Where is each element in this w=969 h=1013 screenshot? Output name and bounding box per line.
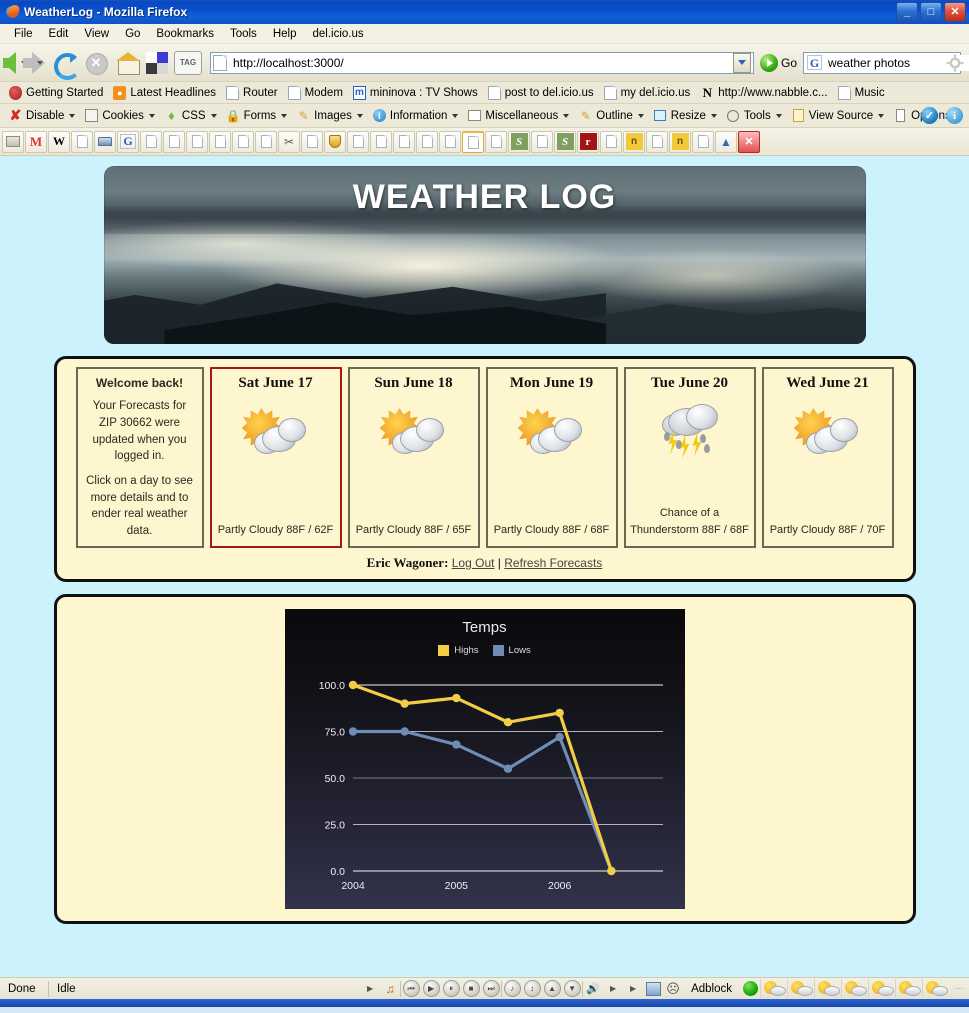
data-point (348, 727, 356, 735)
media-updown-button[interactable]: ↕ (522, 980, 542, 998)
status-text: Done (0, 978, 48, 999)
page-icon[interactable] (416, 131, 438, 153)
scissors-icon[interactable]: ✂ (278, 131, 300, 153)
media-note-button[interactable]: ♪ (502, 980, 522, 998)
caret-right-icon-2[interactable]: ▶ (623, 980, 643, 998)
forward-history-caret-icon[interactable] (37, 61, 43, 65)
bookmark-getting-started[interactable]: Getting Started (5, 85, 107, 101)
statusbar-weather-icon-4[interactable] (841, 979, 868, 998)
caret-right-icon-1[interactable]: ▶ (603, 980, 623, 998)
x-axis-tick-label: 2004 (341, 880, 365, 892)
devbar-label: Miscellaneous (485, 110, 558, 122)
menu-go[interactable]: Go (117, 27, 148, 41)
bookmark-my-delicious[interactable]: my del.icio.us (600, 85, 695, 101)
window-controls: _ □ ✕ (896, 2, 966, 22)
y-axis-tick-label: 0.0 (330, 866, 345, 878)
page-icon[interactable] (163, 131, 185, 153)
home-icon[interactable] (115, 50, 141, 76)
bookmark-label: Music (855, 87, 885, 99)
devbar-information[interactable]: i Information (368, 107, 463, 124)
bookmark-nabble[interactable]: N http://www.nabble.c... (696, 85, 831, 101)
mininova-icon: m (353, 86, 366, 100)
forecast-card-mon[interactable]: Mon June 19 Partly Cloudy 88F / 68F (486, 367, 618, 548)
info-icon: i (372, 108, 387, 123)
bookmark-label: my del.icio.us (621, 87, 691, 99)
nyan-icon[interactable]: n (669, 131, 691, 153)
data-point (400, 727, 408, 735)
gear-icon[interactable] (945, 53, 965, 73)
partly-cloudy-icon (240, 402, 312, 464)
wikipedia-icon[interactable]: W (48, 131, 70, 153)
media-up-button[interactable]: ▲ (542, 980, 562, 998)
clipboard-icon (791, 108, 806, 123)
save-page-icon[interactable] (643, 980, 663, 998)
colorzilla-icon[interactable] (146, 52, 168, 74)
devbar-cookies[interactable]: Cookies (80, 107, 159, 124)
window-title: WeatherLog - Mozilla Firefox (24, 5, 187, 19)
partly-cloudy-icon (792, 402, 864, 464)
note-icon[interactable]: ♫ (380, 980, 400, 998)
devbar-label: Disable (26, 110, 64, 122)
page-icon[interactable] (646, 131, 668, 153)
media-stop-button[interactable]: ■ (461, 980, 481, 998)
thunderstorm-icon (654, 402, 726, 464)
page-icon[interactable] (370, 131, 392, 153)
bookmark-latest-headlines[interactable]: ● Latest Headlines (109, 85, 220, 101)
bookmark-label: post to del.icio.us (505, 87, 594, 99)
lock-icon: 🔒 (226, 108, 241, 123)
bookmark-label: Modem (305, 87, 343, 99)
bookmark-music[interactable]: Music (834, 85, 889, 101)
page-icon[interactable] (439, 131, 461, 153)
devbar-resize[interactable]: Resize (649, 107, 721, 124)
url-input[interactable] (231, 55, 733, 71)
page-title: WEATHER LOG (104, 178, 866, 217)
data-point (503, 718, 511, 726)
page-icon (604, 86, 617, 100)
page-icon[interactable] (393, 131, 415, 153)
bookmark-label: Getting Started (26, 87, 103, 99)
forecast-card-sat[interactable]: Sat June 17 Partly Cloudy 88F / 62F (210, 367, 342, 548)
statusbar-weather-icon-6[interactable] (895, 979, 922, 998)
refresh-forecasts-link[interactable]: Refresh Forecasts (504, 556, 602, 570)
menu-delicious[interactable]: del.icio.us (304, 27, 371, 41)
frown-face-icon[interactable]: ☹ (663, 980, 683, 998)
x-axis-tick-label: 2005 (444, 880, 468, 892)
page-icon[interactable] (347, 131, 369, 153)
firefox-icon (9, 86, 22, 100)
page-content: WEATHER LOG Welcome back! Your Forecasts… (0, 156, 969, 977)
data-point (348, 681, 356, 689)
stop-icon[interactable] (83, 50, 109, 76)
r-logo-icon[interactable]: r (577, 131, 599, 153)
page-icon[interactable] (301, 131, 323, 153)
forecast-card-wed[interactable]: Wed June 21 Partly Cloudy 88F / 70F (762, 367, 894, 548)
welcome-box: Welcome back! Your Forecasts for ZIP 306… (76, 367, 204, 548)
navigation-toolbar: TAG Go G (0, 44, 969, 82)
devbar-label: Images (314, 110, 352, 122)
page-icon (838, 86, 851, 100)
forecast-condition: Partly Cloudy 88F / 70F (770, 522, 886, 540)
close-red-icon[interactable]: ✕ (738, 131, 760, 153)
forecast-day-label: Tue June 20 (651, 375, 728, 392)
bookmark-router[interactable]: Router (222, 85, 282, 101)
bookmark-label: http://www.nabble.c... (718, 87, 827, 99)
maximize-button[interactable]: □ (920, 2, 942, 22)
os-taskbar (0, 999, 969, 1007)
forecast-condition: Partly Cloudy 88F / 62F (218, 522, 334, 540)
menu-file[interactable]: File (6, 27, 41, 41)
data-point (555, 708, 563, 716)
devbar-label: Resize (671, 110, 706, 122)
go-icon (760, 54, 778, 72)
devbar-label: Tools (744, 110, 771, 122)
statusbar-weather-icon-3[interactable] (814, 979, 841, 998)
page-icon[interactable] (140, 131, 162, 153)
data-point (503, 764, 511, 772)
devbar-css[interactable]: ♦ CSS (160, 107, 221, 124)
pencil-icon: ✎ (578, 108, 593, 123)
devbar-right-group: ✓ i (921, 107, 963, 124)
statusbar-weather-icon-5[interactable] (868, 979, 895, 998)
brush-icon: ✎ (296, 108, 311, 123)
devbar-label: Outline (596, 110, 632, 122)
menu-edit[interactable]: Edit (41, 27, 77, 41)
devbar-label: Information (390, 110, 448, 122)
options-icon (893, 108, 908, 123)
shield-icon[interactable] (324, 131, 346, 153)
volume-icon[interactable]: 🔊 (583, 980, 603, 998)
forecast-card-sun[interactable]: Sun June 18 Partly Cloudy 88F / 65F (348, 367, 480, 548)
x-axis-tick-label: 2006 (547, 880, 571, 892)
url-bar[interactable] (210, 52, 754, 74)
menubar: File Edit View Go Bookmarks Tools Help d… (0, 24, 969, 44)
extension-toolbar: MWG✂SSrnn▲✕ (0, 128, 969, 156)
clock-icon (726, 108, 741, 123)
site-banner: WEATHER LOG (104, 166, 866, 344)
forecast-day-label: Wed June 21 (786, 375, 869, 392)
web-developer-toolbar: ✘ Disable Cookies ♦ CSS 🔒 Forms ✎ Images… (0, 104, 969, 128)
expand-caret-icon[interactable]: ▶ (360, 980, 380, 998)
user-name: Eric Wagoner: (367, 555, 449, 570)
scrapbook-icon[interactable] (2, 131, 24, 153)
devbar-images[interactable]: ✎ Images (292, 107, 367, 124)
close-button[interactable]: ✕ (944, 2, 966, 22)
forecast-card-tue[interactable]: Tue June 20 Chance of a Thunderstorm 88F… (624, 367, 756, 548)
reload-icon[interactable] (51, 50, 77, 76)
forecast-day-label: Sun June 18 (374, 375, 452, 392)
checkmark-icon[interactable]: ✓ (921, 107, 938, 124)
data-point (555, 733, 563, 741)
page-icon (488, 86, 501, 100)
partly-cloudy-icon (516, 402, 588, 464)
nabble-icon: N (700, 86, 714, 100)
adblock-label[interactable]: Adblock (683, 978, 740, 999)
info-circle-icon[interactable]: i (946, 107, 963, 124)
devbar-label: Forms (244, 110, 277, 122)
back-button[interactable] (4, 52, 16, 74)
bookmark-post-delicious[interactable]: post to del.icio.us (484, 85, 598, 101)
go-label: Go (781, 56, 797, 70)
devbar-forms[interactable]: 🔒 Forms (222, 107, 292, 124)
welcome-heading: Welcome back! (83, 375, 197, 392)
menu-help[interactable]: Help (265, 27, 305, 41)
media-play-button[interactable]: ▶ (421, 980, 441, 998)
sage-icon[interactable]: S (508, 131, 530, 153)
partly-cloudy-icon (378, 402, 450, 464)
nyan-icon[interactable]: n (623, 131, 645, 153)
devbar-view-source[interactable]: View Source (787, 107, 888, 124)
google-icon[interactable]: G (807, 55, 822, 70)
devbar-label: CSS (182, 110, 206, 122)
devbar-tools[interactable]: Tools (722, 107, 786, 124)
page-favicon (213, 55, 227, 71)
media-down-button[interactable]: ▼ (562, 980, 582, 998)
bluefolder-icon[interactable] (94, 131, 116, 153)
chart-icon[interactable]: ▲ (715, 131, 737, 153)
chart-panel: Temps Highs Lows 0.025.050.075.0100.0200… (54, 594, 916, 924)
statusbar-right: ▶ ♫ ⏮ ▶ ⏸ ■ ⏭ ♪ ↕ ▲ ▼ 🔊 ▶ ▶ ☹ Adblock ⋯ (360, 978, 969, 999)
user-bar: Eric Wagoner: Log Out | Refresh Forecast… (65, 555, 905, 571)
devbar-label: View Source (809, 110, 873, 122)
page-icon[interactable] (692, 131, 714, 153)
devbar-label: Cookies (102, 110, 144, 122)
temps-chart: Temps Highs Lows 0.025.050.075.0100.0200… (285, 609, 685, 909)
data-point (452, 694, 460, 702)
page-icon[interactable] (71, 131, 93, 153)
forecast-condition: Partly Cloudy 88F / 65F (356, 522, 472, 540)
page-icon (288, 86, 301, 100)
url-dropdown-button[interactable] (733, 53, 751, 73)
search-bar[interactable]: G (803, 52, 961, 74)
menu-view[interactable]: View (76, 27, 117, 41)
cookie-icon (84, 108, 99, 123)
green-status-icon[interactable] (740, 980, 760, 998)
data-point (452, 740, 460, 748)
welcome-paragraph-1: Your Forecasts for ZIP 30662 were update… (83, 398, 197, 465)
y-axis-tick-label: 75.0 (324, 726, 345, 738)
media-prev-button[interactable]: ⏮ (401, 980, 421, 998)
forecast-day-label: Mon June 19 (510, 375, 593, 392)
puzzle-icon: ♦ (164, 108, 179, 123)
chart-plot: 0.025.050.075.0100.0200420052006 (285, 609, 685, 909)
tag-icon[interactable]: TAG (174, 51, 202, 75)
page-icon (226, 86, 239, 100)
forecast-day-label: Sat June 17 (238, 375, 312, 392)
statusbar-weather-icon-1[interactable] (760, 979, 787, 998)
devbar-disable[interactable]: ✘ Disable (4, 107, 79, 124)
welcome-paragraph-2: Click on a day to see more details and t… (83, 473, 197, 540)
forecast-condition: Partly Cloudy 88F / 68F (494, 522, 610, 540)
page-icon[interactable] (485, 131, 507, 153)
page-icon[interactable] (209, 131, 231, 153)
bookmarks-toolbar: Getting Started ● Latest Headlines Route… (0, 82, 969, 104)
window-titlebar: WeatherLog - Mozilla Firefox _ □ ✕ (0, 0, 969, 24)
media-next-button[interactable]: ⏭ (481, 980, 501, 998)
rss-icon: ● (113, 86, 126, 100)
menu-bookmarks[interactable]: Bookmarks (148, 27, 222, 41)
gmail-icon[interactable]: M (25, 131, 47, 153)
bookmark-modem[interactable]: Modem (284, 85, 347, 101)
page-icon[interactable] (600, 131, 622, 153)
y-axis-tick-label: 25.0 (324, 819, 345, 831)
devbar-outline[interactable]: ✎ Outline (574, 107, 647, 124)
google-icon[interactable]: G (117, 131, 139, 153)
page-icon[interactable] (531, 131, 553, 153)
bookmark-label: mininova : TV Shows (370, 87, 478, 99)
page-icon[interactable] (232, 131, 254, 153)
data-point (400, 699, 408, 707)
logout-link[interactable]: Log Out (452, 556, 495, 570)
page-active-icon[interactable] (462, 131, 484, 153)
minimize-button[interactable]: _ (896, 2, 918, 22)
menu-tools[interactable]: Tools (222, 27, 265, 41)
sage-icon[interactable]: S (554, 131, 576, 153)
bookmark-label: Router (243, 87, 278, 99)
statusbar: Done Idle ▶ ♫ ⏮ ▶ ⏸ ■ ⏭ ♪ ↕ ▲ ▼ 🔊 ▶ ▶ ☹ … (0, 977, 969, 999)
red-x-icon: ✘ (8, 108, 23, 123)
data-point (607, 867, 615, 875)
download-status-text: Idle (49, 978, 84, 999)
firefox-icon (4, 4, 20, 20)
go-button[interactable]: Go (760, 54, 797, 72)
devbar-miscellaneous[interactable]: Miscellaneous (463, 107, 573, 124)
resize-grip-icon[interactable]: ⋯ (949, 980, 969, 998)
resize-icon (653, 108, 668, 123)
bookmark-mininova[interactable]: m mininova : TV Shows (349, 85, 482, 101)
statusbar-weather-icon-2[interactable] (787, 979, 814, 998)
page-icon[interactable] (186, 131, 208, 153)
list-icon (467, 108, 482, 123)
forecast-panel: Welcome back! Your Forecasts for ZIP 306… (54, 356, 916, 582)
page-icon[interactable] (255, 131, 277, 153)
forecast-condition: Chance of a Thunderstorm 88F / 68F (630, 505, 750, 540)
separator: | (498, 556, 501, 570)
media-pause-button[interactable]: ⏸ (441, 980, 461, 998)
forecast-row: Welcome back! Your Forecasts for ZIP 306… (65, 367, 905, 548)
y-axis-tick-label: 50.0 (324, 773, 345, 785)
y-axis-tick-label: 100.0 (318, 680, 344, 692)
bookmark-label: Latest Headlines (130, 87, 216, 99)
statusbar-weather-icon-7[interactable] (922, 979, 949, 998)
